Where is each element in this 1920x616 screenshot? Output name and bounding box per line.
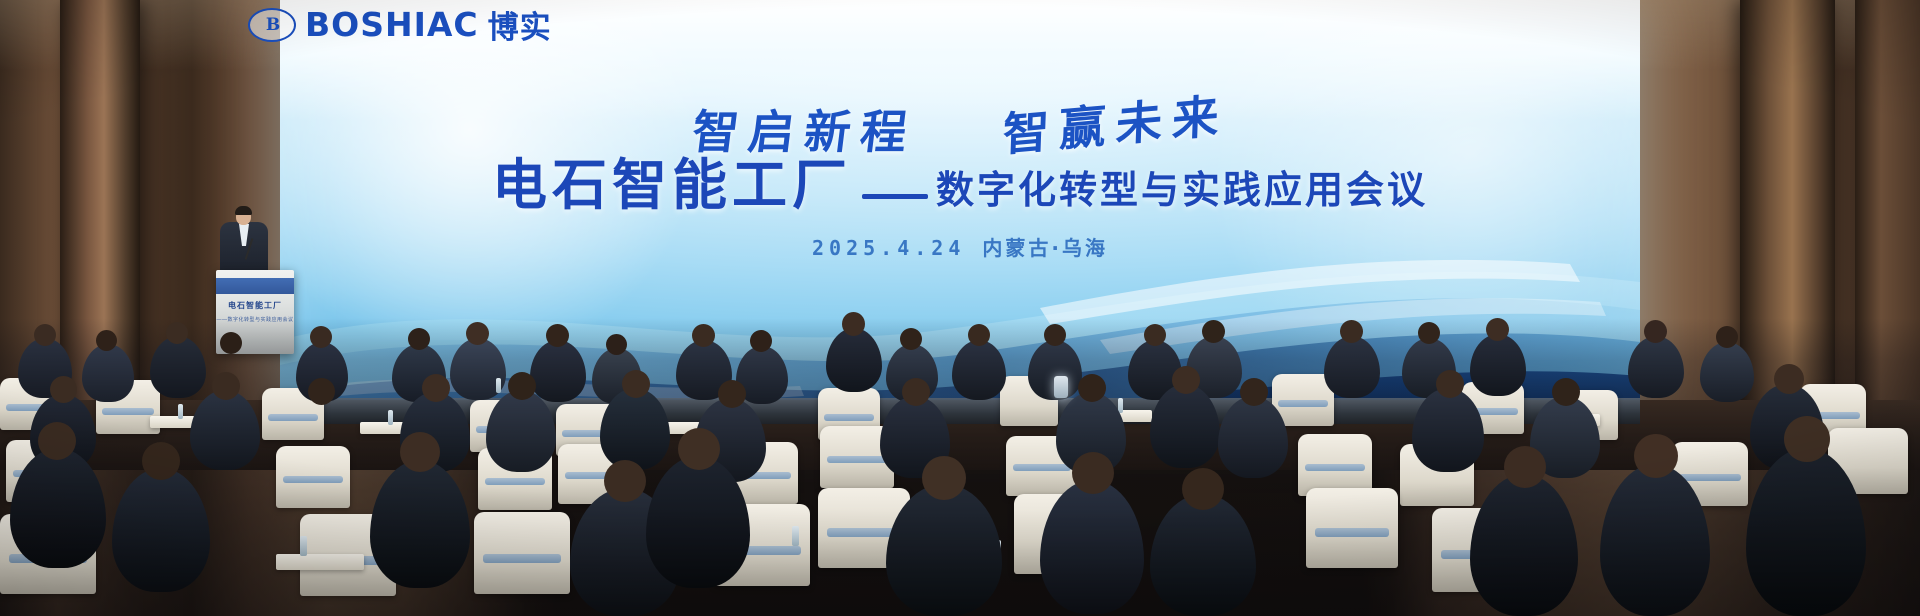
attendee-head — [1078, 374, 1106, 402]
attendee — [530, 340, 586, 402]
brand-name-cn: 博实 — [488, 2, 552, 47]
attendee-head — [1784, 416, 1830, 462]
attendee-head — [1634, 434, 1678, 478]
attendee — [826, 328, 882, 392]
water-bottle — [388, 410, 393, 425]
event-location: 内蒙古·乌海 — [982, 236, 1108, 260]
brand-name-en: BOSHIAC — [305, 5, 479, 44]
attendee-head — [718, 380, 746, 408]
attendee-head — [1436, 370, 1464, 398]
chair-band — [283, 476, 343, 483]
attendee — [952, 340, 1006, 400]
attendee — [486, 390, 556, 472]
attendee-head — [308, 378, 335, 405]
attendee-head — [1716, 326, 1738, 348]
attendee — [1324, 336, 1380, 398]
attendee — [82, 344, 134, 402]
attendee-head — [408, 328, 430, 350]
audience-area — [0, 318, 1920, 616]
attendee-head — [922, 456, 966, 500]
attendee-head — [604, 460, 646, 502]
attendee-head — [1240, 378, 1268, 406]
attendee — [286, 396, 354, 474]
attendee-head — [34, 324, 56, 346]
attendee-head — [38, 422, 76, 460]
attendee — [1628, 336, 1684, 398]
attendee-head — [900, 328, 922, 350]
chair-band — [102, 408, 154, 415]
attendee-head — [622, 370, 650, 398]
chair-band — [485, 478, 545, 485]
lectern-banner — [216, 278, 294, 294]
attendee-head — [142, 442, 180, 480]
attendee-head — [1552, 378, 1580, 406]
attendee — [1150, 494, 1256, 616]
attendee-head — [1172, 366, 1200, 394]
chair-band — [824, 414, 874, 421]
screen-dateline: 2025.4.24 内蒙古·乌海 — [280, 232, 1640, 261]
attendee — [1470, 474, 1578, 616]
attendee-head — [1202, 320, 1225, 343]
attendee-head — [508, 372, 536, 400]
attendee-head — [1072, 452, 1114, 494]
event-date: 2025.4.24 — [812, 236, 965, 260]
attendee-head — [750, 330, 772, 352]
chair-band — [827, 456, 887, 463]
chair-band — [1278, 400, 1328, 407]
chair-band — [1315, 528, 1389, 537]
attendee — [1470, 334, 1526, 396]
boshiac-mark-icon: B — [248, 8, 296, 42]
attendee-head — [1486, 318, 1509, 341]
attendee-head — [1044, 324, 1066, 346]
attendee-head — [466, 322, 489, 345]
chair-band — [1305, 464, 1365, 471]
lectern-title: 电石智能工厂 — [216, 300, 294, 311]
attendee-head — [50, 376, 77, 403]
attendee-head — [96, 330, 117, 351]
screen-headline: 电石智能工厂 数字化转型与实践应用会议 — [280, 158, 1640, 213]
conference-photo: 智启新程 智赢未来 电石智能工厂 数字化转型与实践应用会议 2025.4.24 … — [0, 0, 1920, 616]
headline-sub: 数字化转型与实践应用会议 — [936, 171, 1428, 213]
attendee-head — [1340, 320, 1363, 343]
attendee-head — [1504, 446, 1546, 488]
chair-band — [1013, 464, 1071, 471]
attendee-head — [842, 312, 865, 336]
headline-dash-icon — [862, 194, 928, 199]
attendee-head — [606, 334, 627, 355]
headline-main: 电石智能工厂 — [492, 158, 852, 213]
attendee — [150, 336, 206, 398]
attendee — [370, 460, 470, 588]
attendee — [190, 390, 260, 470]
attendee-head — [166, 322, 188, 344]
attendee-head — [400, 432, 440, 472]
boshiac-mark-letter: B — [266, 15, 278, 35]
speaker-hair — [235, 206, 252, 215]
attendee-head — [546, 324, 569, 347]
attendee-head — [220, 332, 242, 354]
chair — [474, 512, 570, 594]
attendee-head — [1418, 322, 1440, 344]
chair-band — [483, 554, 561, 563]
attendee — [1700, 342, 1754, 402]
attendee-head — [968, 324, 990, 346]
water-bottle — [300, 536, 307, 556]
screen-calligraphy: 智启新程 智赢未来 — [280, 96, 1640, 162]
attendee — [600, 388, 670, 470]
attendee-head — [692, 324, 715, 347]
calligraphy-left: 智启新程 — [689, 105, 920, 159]
attendee-head — [1644, 320, 1667, 343]
table — [276, 554, 364, 570]
phone-screen — [1054, 376, 1068, 398]
attendee-head — [1144, 324, 1166, 346]
attendee-head — [678, 428, 720, 470]
attendee — [112, 468, 210, 592]
attendee-head — [212, 372, 240, 400]
attendee-head — [1774, 364, 1804, 394]
boshiac-logo: B BOSHIAC 博实 — [248, 2, 552, 47]
attendee-head — [1182, 468, 1224, 510]
water-bottle — [178, 404, 183, 419]
attendee-head — [310, 326, 332, 348]
water-bottle — [496, 378, 501, 393]
attendee-head — [422, 374, 450, 402]
water-bottle — [792, 526, 799, 546]
attendee-head — [902, 378, 930, 406]
chair-band — [1679, 474, 1741, 481]
